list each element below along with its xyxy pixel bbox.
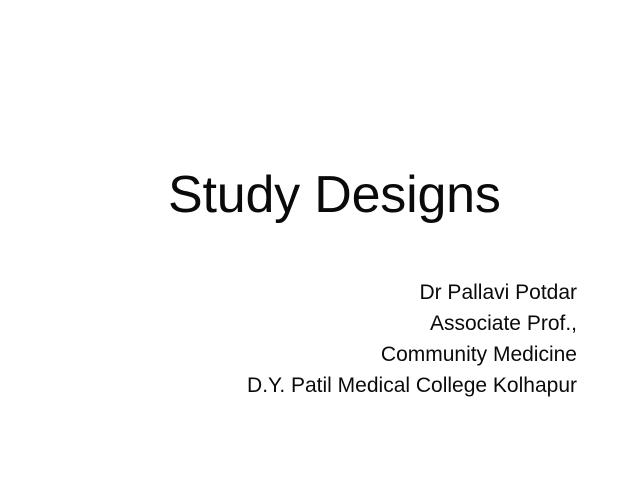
subtitle-placeholder: Dr Pallavi Potdar Associate Prof., Commu… bbox=[60, 277, 577, 401]
subtitle-line-department: Community Medicine bbox=[60, 339, 577, 370]
subtitle-line-designation: Associate Prof., bbox=[60, 308, 577, 339]
page-title: Study Designs bbox=[168, 168, 588, 223]
subtitle-line-author: Dr Pallavi Potdar bbox=[60, 277, 577, 308]
subtitle-line-institution: D.Y. Patil Medical College Kolhapur bbox=[60, 370, 577, 401]
title-placeholder: Study Designs bbox=[168, 168, 588, 223]
title-slide: Study Designs Dr Pallavi Potdar Associat… bbox=[0, 0, 640, 480]
